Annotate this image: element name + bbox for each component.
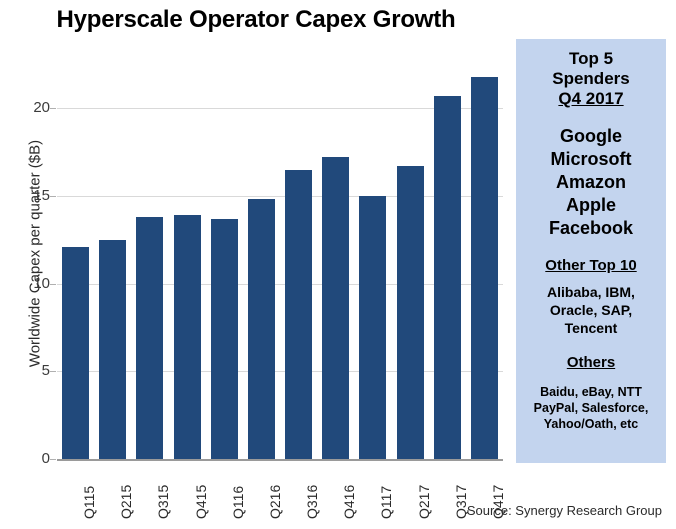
y-tick-mark <box>50 371 56 372</box>
y-tick-mark <box>50 196 56 197</box>
legend-heading-line2: Spenders <box>516 69 666 89</box>
x-tick-label: Q115 <box>81 492 97 519</box>
x-tick-label: Q216 <box>267 492 283 519</box>
x-tick-label: Q315 <box>155 492 171 519</box>
y-tick-mark <box>50 459 56 460</box>
page-title: Hyperscale Operator Capex Growth <box>0 6 512 34</box>
plot-area <box>57 73 503 459</box>
legend-spacer <box>516 109 666 125</box>
legend-spacer <box>516 240 666 256</box>
source-note: Source: Synergy Research Group <box>467 503 662 518</box>
bar <box>136 217 163 459</box>
bar <box>174 215 201 459</box>
bar <box>62 247 89 459</box>
bar <box>248 199 275 459</box>
x-tick-label: Q415 <box>193 492 209 519</box>
bar <box>471 77 498 459</box>
legend-spacer <box>516 275 666 283</box>
x-tick-label: Q117 <box>378 492 394 519</box>
bar <box>285 170 312 460</box>
y-tick-label: 10 <box>6 275 50 292</box>
y-tick-label: 5 <box>6 362 50 379</box>
legend-other-top10-heading: Other Top 10 <box>516 256 666 275</box>
legend-spacer <box>516 337 666 353</box>
top-spenders-panel: Top 5 Spenders Q4 2017 Google Microsoft … <box>516 39 666 463</box>
legend-company-3: Apple <box>516 194 666 217</box>
legend-heading-line1: Top 5 <box>516 49 666 69</box>
x-tick-label: Q215 <box>118 492 134 519</box>
legend-other-top10-line-0: Alibaba, IBM, <box>516 283 666 301</box>
legend-other-top10-line-2: Tencent <box>516 319 666 337</box>
bar <box>359 196 386 459</box>
x-tick-label: Q116 <box>230 492 246 519</box>
legend-company-4: Facebook <box>516 217 666 240</box>
legend-company-2: Amazon <box>516 171 666 194</box>
legend-company-1: Microsoft <box>516 148 666 171</box>
x-tick-label: Q217 <box>416 492 432 519</box>
bar <box>99 240 126 459</box>
legend-others-heading: Others <box>516 353 666 372</box>
bar <box>211 219 238 459</box>
x-tick-label: Q416 <box>341 492 357 519</box>
legend-other-top10-line-1: Oracle, SAP, <box>516 301 666 319</box>
legend-others-line-2: Yahoo/Oath, etc <box>516 416 666 432</box>
legend-heading-quarter: Q4 2017 <box>516 89 666 109</box>
y-tick-label: 0 <box>6 450 50 467</box>
y-tick-mark <box>50 108 56 109</box>
bar <box>434 96 461 459</box>
bar <box>397 166 424 459</box>
legend-others-line-0: Baidu, eBay, NTT <box>516 384 666 400</box>
y-tick-mark <box>50 284 56 285</box>
y-axis-ticks: 05101520 <box>0 73 50 459</box>
x-axis-labels: Q115Q215Q315Q415Q116Q216Q316Q416Q117Q217… <box>57 461 503 523</box>
y-tick-label: 15 <box>6 187 50 204</box>
chart-page: Hyperscale Operator Capex Growth Worldwi… <box>0 0 676 529</box>
legend-spacer <box>516 372 666 384</box>
x-tick-label: Q316 <box>304 492 320 519</box>
legend-company-0: Google <box>516 125 666 148</box>
bar <box>322 157 349 459</box>
y-tick-label: 20 <box>6 99 50 116</box>
legend-others-line-1: PayPal, Salesforce, <box>516 400 666 416</box>
